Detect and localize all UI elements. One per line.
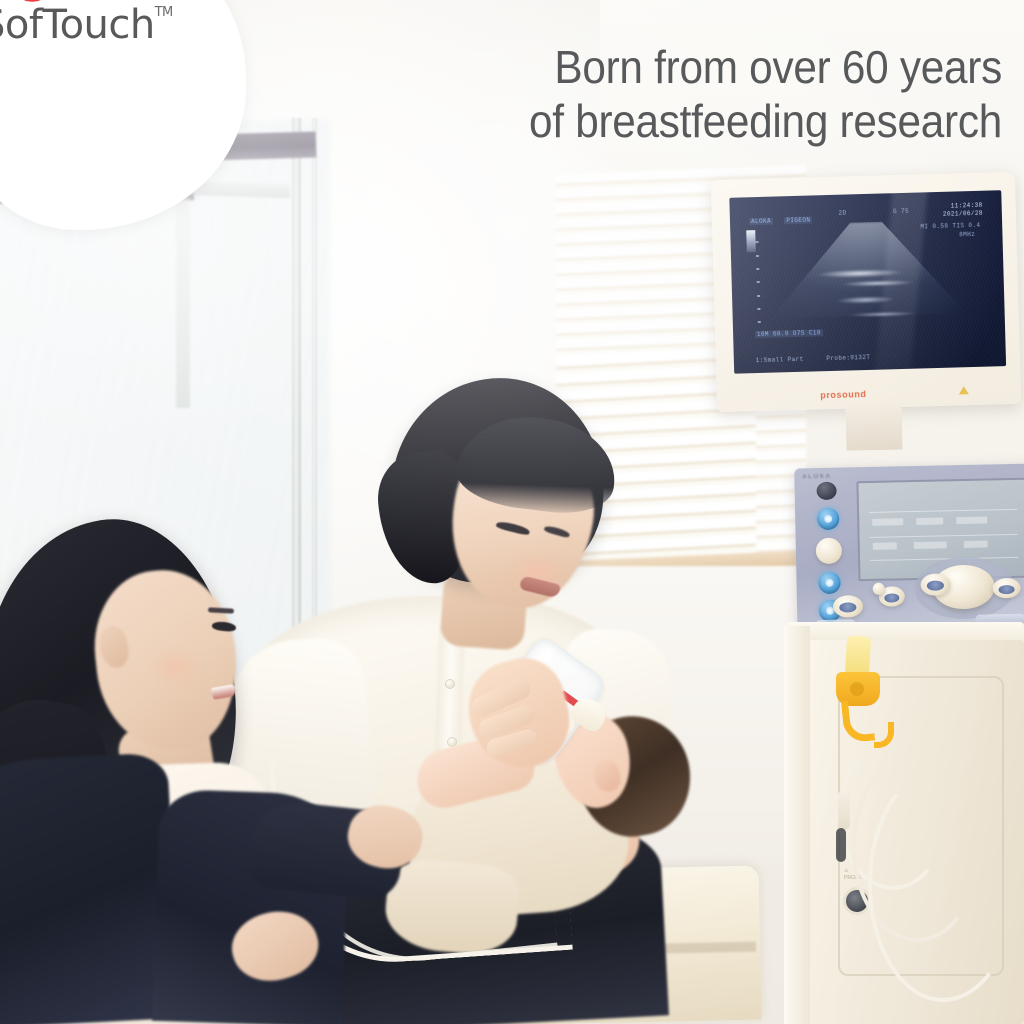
brand-lockup: igeon SofTouch TM: [0, 0, 190, 78]
screen-mode-text: 2D: [838, 209, 846, 216]
probe-cable-loop-3: [868, 766, 1018, 1002]
cable-connector: [838, 790, 850, 830]
machine-side-rail: [784, 626, 810, 1024]
screen-patient-text: PIGEON: [784, 217, 812, 225]
headline-line-2: of breastfeeding research: [384, 94, 1002, 148]
headline-line-1: Born from over 60 years: [554, 41, 1002, 93]
cable-strain-relief: [836, 828, 846, 862]
ultrasound-screen: ALOKA PIGEON 2D 11:24:38 2021/06/28 MI 0…: [729, 190, 1006, 374]
screen-gain-text: G 75: [893, 208, 909, 215]
glass-mullion-vertical-2: [312, 118, 317, 684]
nurse-cheek: [150, 648, 202, 688]
product-name: SofTouch TM: [0, 4, 155, 46]
glass-mullion-vertical: [292, 118, 301, 684]
ad-creative-canvas: ALOKA PIGEON 2D 11:24:38 2021/06/28 MI 0…: [0, 0, 1024, 1024]
gain-knob[interactable]: [816, 538, 843, 565]
zoom-knob[interactable]: [992, 578, 1020, 599]
power-button[interactable]: [816, 482, 836, 500]
blouse-button-1: [446, 680, 454, 688]
depth-knob[interactable]: [833, 595, 863, 618]
trademark-symbol: TM: [155, 6, 173, 20]
screen-timestamp-text: 11:24:38: [950, 201, 982, 209]
screen-date-text: 2021/06/28: [943, 210, 983, 218]
door-frame-post: [176, 198, 190, 408]
warning-triangle-icon: [959, 386, 969, 394]
hook-hole-icon: [850, 682, 864, 696]
monitor-brand-label: prosound: [820, 389, 867, 400]
monitor-stand-neck: [846, 404, 903, 451]
console-brand-label: ALOKA: [802, 474, 831, 481]
blouse-button-2: [448, 738, 456, 746]
screen-freq-text: 8MHz: [959, 231, 975, 238]
product-name-text: SofTouch: [0, 2, 155, 48]
screen-manufacturer-text: ALOKA: [749, 218, 773, 226]
headline: Born from over 60 years of breastfeeding…: [384, 40, 1002, 149]
freeze-button[interactable]: [817, 508, 839, 530]
screen-probe-text: Probe:9132T: [826, 354, 870, 362]
measure-button[interactable]: [818, 572, 840, 594]
ultrasound-monitor: ALOKA PIGEON 2D 11:24:38 2021/06/28 MI 0…: [711, 172, 1021, 412]
screen-preset-text: 1:Small Part: [756, 356, 804, 364]
